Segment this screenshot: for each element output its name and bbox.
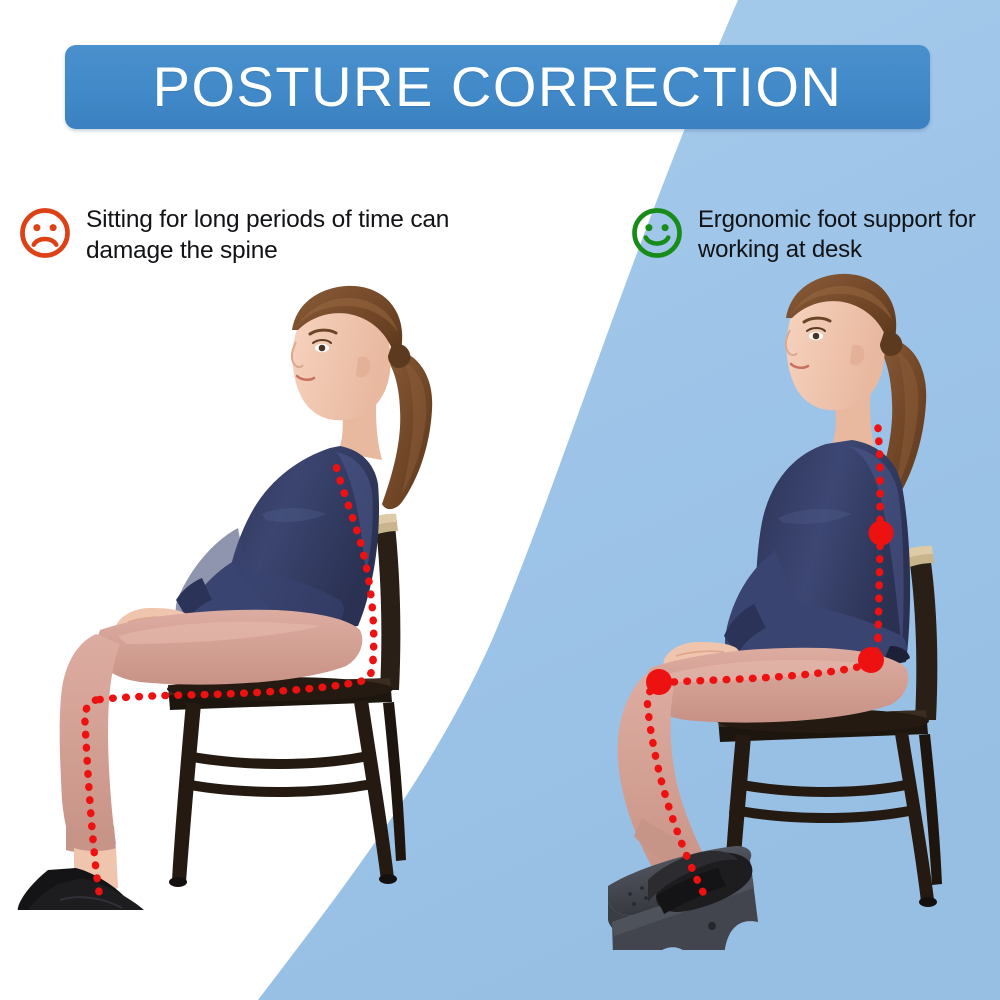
torso-left bbox=[116, 446, 379, 638]
caption-right-line-1: Ergonomic foot support for bbox=[698, 205, 976, 235]
figure-slouched-posture bbox=[0, 270, 470, 910]
joint-marker-hip bbox=[858, 647, 884, 673]
caption-left-text: Sitting for long periods of time can dam… bbox=[86, 205, 449, 266]
page-title: POSTURE CORRECTION bbox=[153, 59, 843, 115]
caption-left-line-2: damage the spine bbox=[86, 236, 449, 267]
torso-right bbox=[664, 440, 910, 672]
caption-left-line-1: Sitting for long periods of time can bbox=[86, 205, 449, 236]
caption-left: Sitting for long periods of time can dam… bbox=[18, 205, 488, 266]
legs-left bbox=[60, 610, 363, 893]
title-banner: POSTURE CORRECTION bbox=[65, 45, 930, 129]
joint-marker-shoulder bbox=[869, 521, 894, 546]
head-right bbox=[786, 274, 903, 456]
head-left bbox=[292, 286, 411, 460]
shoes-left bbox=[18, 868, 151, 910]
infographic-canvas: POSTURE CORRECTION Sitting for long peri… bbox=[0, 0, 1000, 1000]
joint-marker-knee bbox=[646, 669, 672, 695]
figure-upright-posture bbox=[590, 250, 1000, 950]
sad-face-icon bbox=[18, 206, 72, 260]
